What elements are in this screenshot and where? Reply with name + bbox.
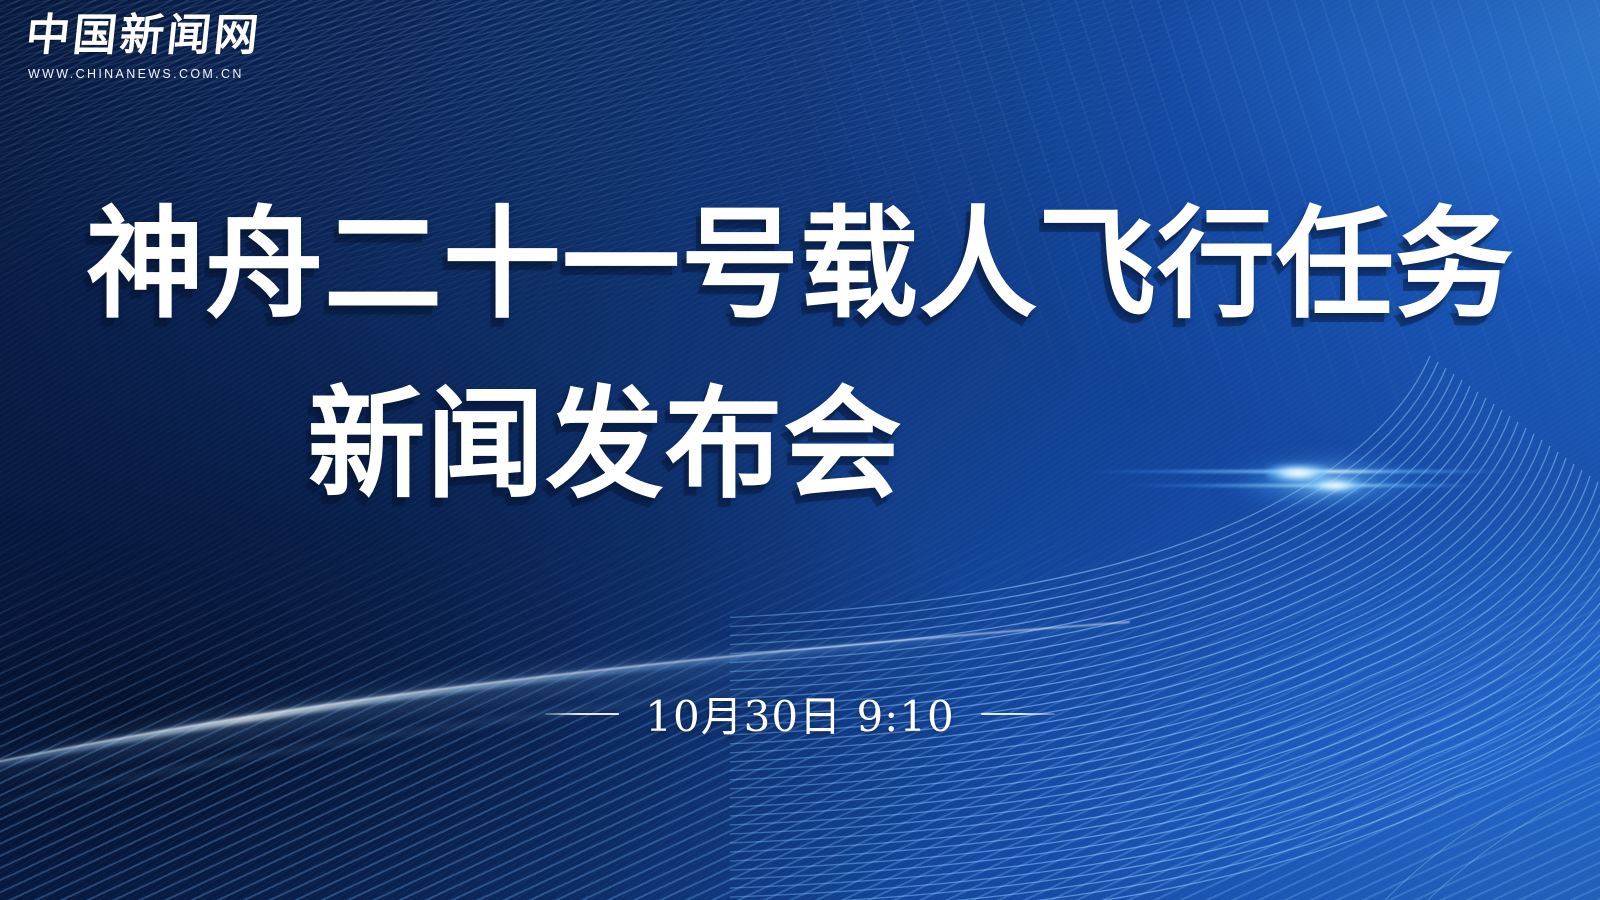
chinanews-logo[interactable]: 中国新闻网 WWW.CHINANEWS.COM.CN xyxy=(26,14,261,81)
date-rule-left xyxy=(545,713,619,715)
news-poster: 中国新闻网 WWW.CHINANEWS.COM.CN 神舟二十一号载人飞行任务 … xyxy=(0,0,1600,900)
logo-url: WWW.CHINANEWS.COM.CN xyxy=(28,67,261,81)
poster-title: 神舟二十一号载人飞行任务 新闻发布会 xyxy=(0,205,1600,503)
event-datetime: 10月30日 9:10 xyxy=(0,683,1600,744)
title-line-2: 新闻发布会 xyxy=(0,384,1210,504)
date-rule-right xyxy=(981,713,1055,715)
title-line-1: 神舟二十一号载人飞行任务 xyxy=(0,204,1600,324)
logo-wordmark: 中国新闻网 xyxy=(24,14,264,58)
date-text: 10月30日 9:10 xyxy=(645,683,955,744)
